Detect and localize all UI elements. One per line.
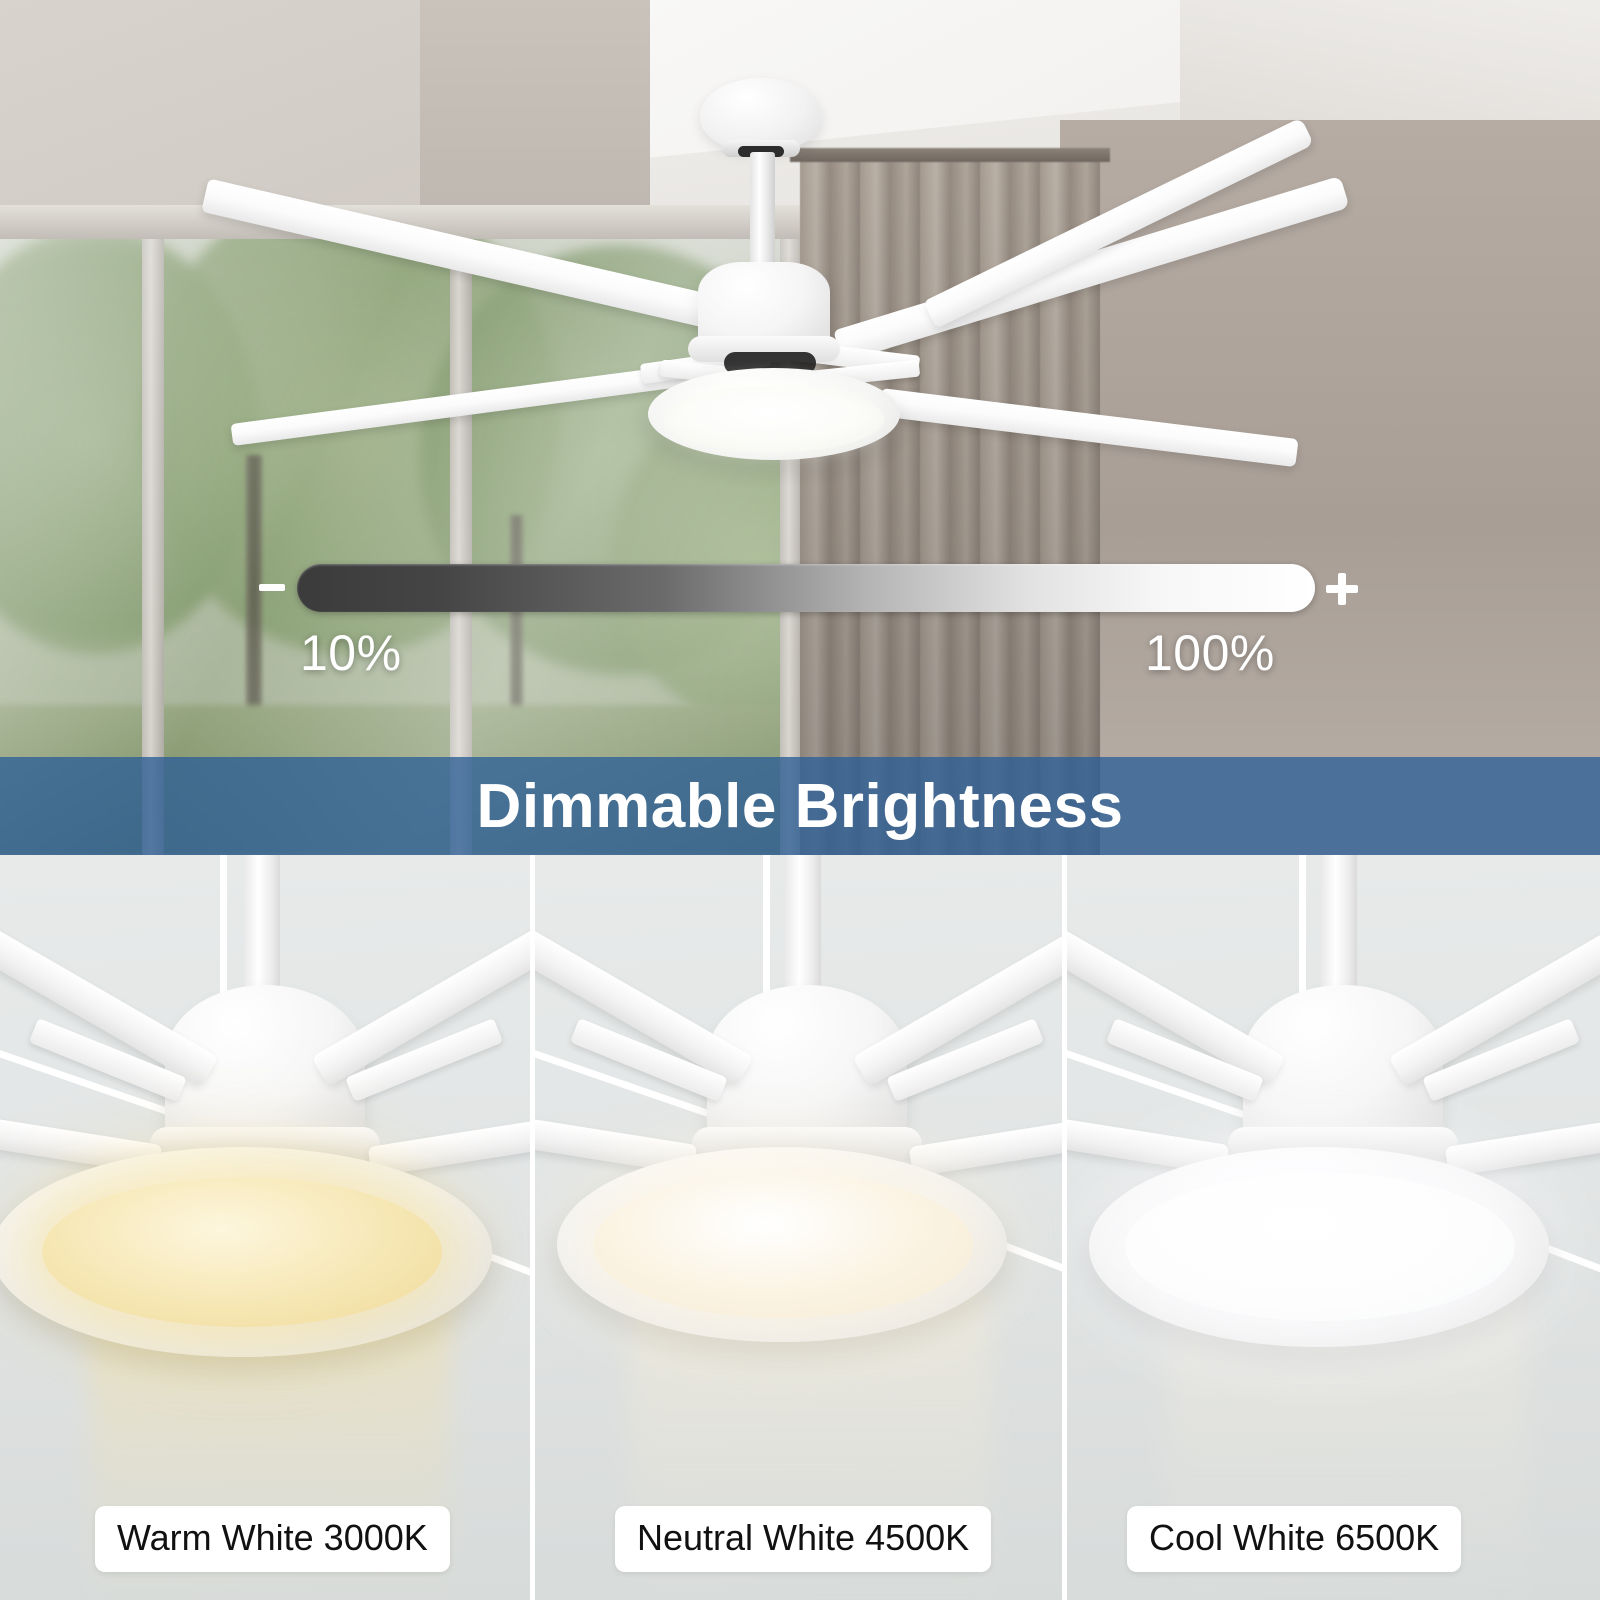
ceiling-fan: [0, 0, 1600, 855]
downrod: [750, 152, 775, 270]
banner-title: Dimmable Brightness: [477, 771, 1124, 842]
fan-blade: [878, 388, 1298, 467]
fan-blade: [833, 176, 1349, 363]
cool-white-lens: [1125, 1173, 1515, 1321]
fan-blade: [201, 178, 754, 337]
warm-white-lens: [42, 1177, 442, 1327]
brightness-max-label: 100%: [1145, 624, 1275, 682]
panel-warm-white[interactable]: Warm White 3000K: [0, 855, 530, 1600]
panel-label-chip: Cool White 6500K: [1127, 1506, 1461, 1572]
light-kit-lens: [672, 392, 876, 446]
plus-icon-vertical-stroke[interactable]: [1338, 573, 1346, 605]
feature-banner: Dimmable Brightness: [0, 757, 1600, 855]
color-temperature-comparison: Warm White 3000K Neutral White 4500K: [0, 855, 1600, 1600]
brightness-min-label: 10%: [300, 624, 402, 682]
neutral-white-lens: [593, 1173, 973, 1318]
brightness-slider[interactable]: [297, 564, 1315, 612]
panel-label-chip: Neutral White 4500K: [615, 1506, 991, 1572]
panel-neutral-white[interactable]: Neutral White 4500K: [535, 855, 1062, 1600]
minus-icon[interactable]: [259, 584, 285, 591]
top-room-scene: 10% 100% Dimmable Brightness: [0, 0, 1600, 855]
panel-label-chip: Warm White 3000K: [95, 1506, 450, 1572]
panel-cool-white[interactable]: Cool White 6500K: [1067, 855, 1600, 1600]
infographic-root: 10% 100% Dimmable Brightness: [0, 0, 1600, 1600]
